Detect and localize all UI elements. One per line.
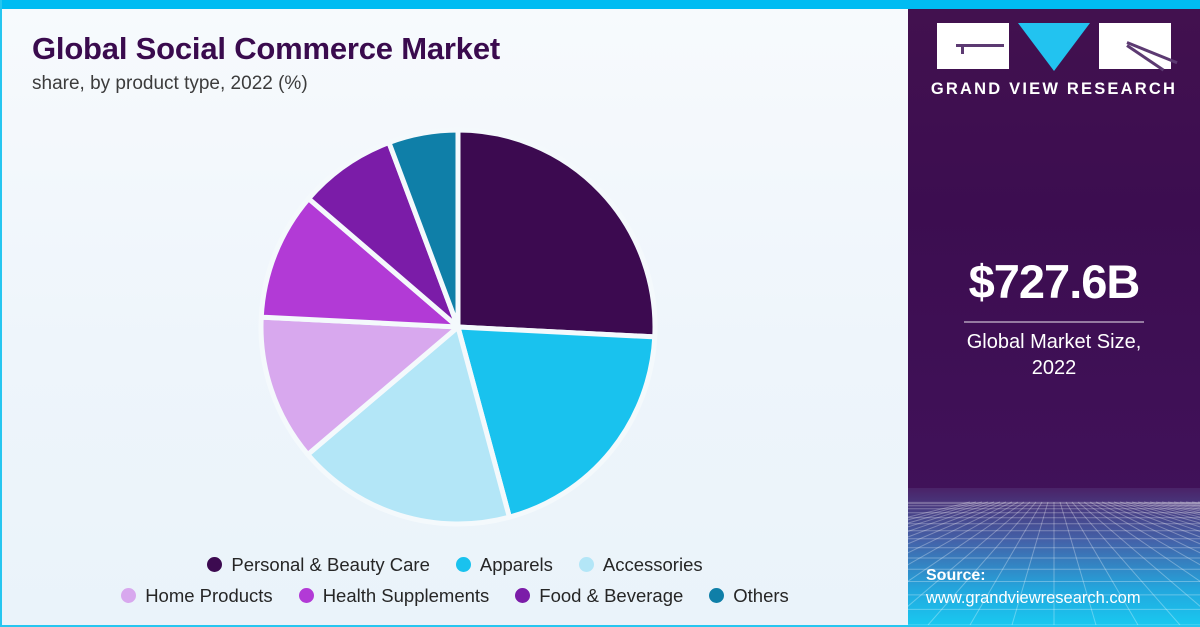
page-title: Global Social Commerce Market — [32, 31, 500, 67]
legend-item[interactable]: Food & Beverage — [515, 585, 683, 607]
top-accent-rule — [2, 0, 1200, 9]
source-label: Source: — [926, 565, 1141, 587]
infographic-canvas: Global Social Commerce Market share, by … — [0, 0, 1200, 627]
pie-chart-svg — [248, 119, 668, 539]
legend-label: Apparels — [480, 554, 553, 576]
source-url: www.grandviewresearch.com — [926, 587, 1141, 609]
logo-letter-g-icon — [937, 23, 1009, 69]
legend-item[interactable]: Home Products — [121, 585, 273, 607]
market-size-value: $727.6B — [908, 254, 1200, 309]
chart-legend: Personal & Beauty CareApparelsAccessorie… — [2, 549, 908, 611]
legend-item[interactable]: Others — [709, 585, 789, 607]
legend-label: Food & Beverage — [539, 585, 683, 607]
pie-slice — [458, 130, 655, 337]
legend-row: Personal & Beauty CareApparelsAccessorie… — [2, 549, 908, 580]
logo-g-stub — [961, 44, 964, 54]
legend-swatch-icon — [579, 557, 594, 572]
legend-label: Home Products — [145, 585, 273, 607]
perspective-grid-graphic: Source: www.grandviewresearch.com — [908, 488, 1200, 625]
stat-divider — [964, 321, 1144, 323]
legend-item[interactable]: Apparels — [456, 554, 553, 576]
pie-slice-group — [261, 130, 655, 524]
legend-swatch-icon — [207, 557, 222, 572]
legend-swatch-icon — [299, 588, 314, 603]
logo-letter-v-icon — [1018, 23, 1090, 71]
legend-row: Home ProductsHealth SupplementsFood & Be… — [2, 580, 908, 611]
market-size-caption: Global Market Size,2022 — [908, 329, 1200, 382]
legend-label: Others — [733, 585, 789, 607]
pie-chart — [248, 119, 668, 539]
logo-letter-r-icon — [1099, 23, 1171, 69]
legend-item[interactable]: Accessories — [579, 554, 703, 576]
page-subtitle: share, by product type, 2022 (%) — [32, 73, 308, 95]
chart-panel: Global Social Commerce Market share, by … — [2, 9, 908, 625]
source-block: Source: www.grandviewresearch.com — [926, 565, 1141, 609]
legend-label: Personal & Beauty Care — [231, 554, 429, 576]
legend-swatch-icon — [515, 588, 530, 603]
legend-label: Health Supplements — [323, 585, 490, 607]
brand-panel: GRAND VIEW RESEARCH $727.6B Global Marke… — [908, 9, 1200, 625]
legend-label: Accessories — [603, 554, 703, 576]
legend-swatch-icon — [709, 588, 724, 603]
legend-swatch-icon — [456, 557, 471, 572]
legend-item[interactable]: Health Supplements — [299, 585, 490, 607]
legend-swatch-icon — [121, 588, 136, 603]
logo-wordmark: GRAND VIEW RESEARCH — [908, 80, 1200, 99]
legend-item[interactable]: Personal & Beauty Care — [207, 554, 429, 576]
grand-view-research-logo: GRAND VIEW RESEARCH — [908, 23, 1200, 99]
logo-marks — [908, 23, 1200, 71]
